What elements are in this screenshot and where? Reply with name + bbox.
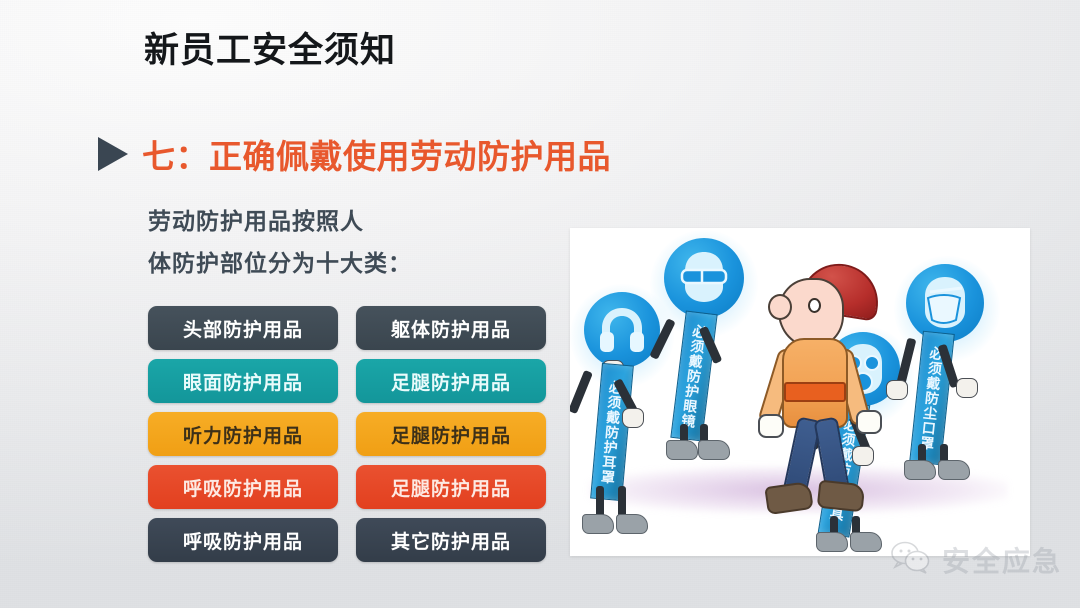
worker-boot-right bbox=[817, 480, 866, 513]
category-chip[interactable]: 足腿防护用品 bbox=[356, 465, 546, 509]
body-line-1: 劳动防护用品按照人 bbox=[148, 200, 412, 242]
sign-hand-right bbox=[622, 408, 644, 428]
ear-protection-icon bbox=[584, 292, 660, 368]
worker-hand-left bbox=[758, 414, 784, 438]
ppe-cartoon-illustration: 必须戴防护耳罩 必须戴防护眼镜 bbox=[570, 228, 1030, 556]
category-chip[interactable]: 听力防护用品 bbox=[148, 412, 338, 456]
category-chip[interactable]: 其它防护用品 bbox=[356, 518, 546, 562]
sign-character-safety-glasses: 必须戴防护眼镜 bbox=[652, 236, 748, 464]
category-chip[interactable]: 足腿防护用品 bbox=[356, 412, 546, 456]
sign-shoe-left bbox=[904, 460, 936, 480]
section-heading: 七：正确佩戴使用劳动防护用品 bbox=[142, 130, 611, 178]
category-chip[interactable]: 头部防护用品 bbox=[148, 306, 338, 350]
worker-ear bbox=[768, 294, 792, 320]
category-chip[interactable]: 呼吸防护用品 bbox=[148, 518, 338, 562]
sign-shoe-right bbox=[616, 514, 648, 534]
slide-canvas: 新员工安全须知 七：正确佩戴使用劳动防护用品 劳动防护用品按照人 体防护部位分为… bbox=[0, 0, 1080, 608]
category-chip-grid: 头部防护用品 躯体防护用品 眼面防护用品 足腿防护用品 听力防护用品 足腿防护用… bbox=[148, 306, 546, 562]
sign-character-dust-mask: 必须戴防尘口罩 bbox=[888, 262, 1000, 484]
sign-body-text: 必须戴防护耳罩 bbox=[590, 363, 634, 501]
body-line-2: 体防护部位分为十大类： bbox=[148, 242, 412, 284]
triangle-right-icon bbox=[98, 137, 128, 171]
body-paragraph: 劳动防护用品按照人 体防护部位分为十大类： bbox=[148, 200, 412, 284]
worker-hand-right bbox=[856, 410, 882, 434]
sign-shoe-right bbox=[938, 460, 970, 480]
sign-shoe-right bbox=[698, 440, 730, 460]
section-heading-row: 七：正确佩戴使用劳动防护用品 bbox=[98, 130, 611, 178]
ppe-illustration-panel: 必须戴防护耳罩 必须戴防护眼镜 bbox=[570, 228, 1030, 556]
sign-shoe-right bbox=[850, 532, 882, 552]
category-chip[interactable]: 足腿防护用品 bbox=[356, 359, 546, 403]
worker-with-red-helmet bbox=[756, 260, 886, 532]
safety-glasses-icon bbox=[664, 238, 744, 318]
dust-mask-icon bbox=[906, 264, 984, 342]
category-chip[interactable]: 眼面防护用品 bbox=[148, 359, 338, 403]
page-title: 新员工安全须知 bbox=[144, 22, 396, 73]
wechat-icon bbox=[890, 541, 932, 580]
worker-boot-left bbox=[764, 481, 813, 515]
worker-eye bbox=[808, 298, 821, 313]
category-chip[interactable]: 呼吸防护用品 bbox=[148, 465, 338, 509]
watermark-text: 安全应急 bbox=[942, 540, 1062, 580]
sign-arm-left bbox=[897, 338, 917, 385]
sign-shoe-left bbox=[666, 440, 698, 460]
watermark: 安全应急 bbox=[890, 540, 1062, 580]
sign-arm-left bbox=[649, 318, 676, 360]
worker-belt bbox=[784, 382, 846, 402]
sign-hand-left bbox=[886, 380, 908, 400]
category-chip[interactable]: 躯体防护用品 bbox=[356, 306, 546, 350]
sign-shoe-left bbox=[816, 532, 848, 552]
sign-shoe-left bbox=[582, 514, 614, 534]
sign-hand-right bbox=[956, 378, 978, 398]
sign-arm-left bbox=[570, 370, 593, 414]
